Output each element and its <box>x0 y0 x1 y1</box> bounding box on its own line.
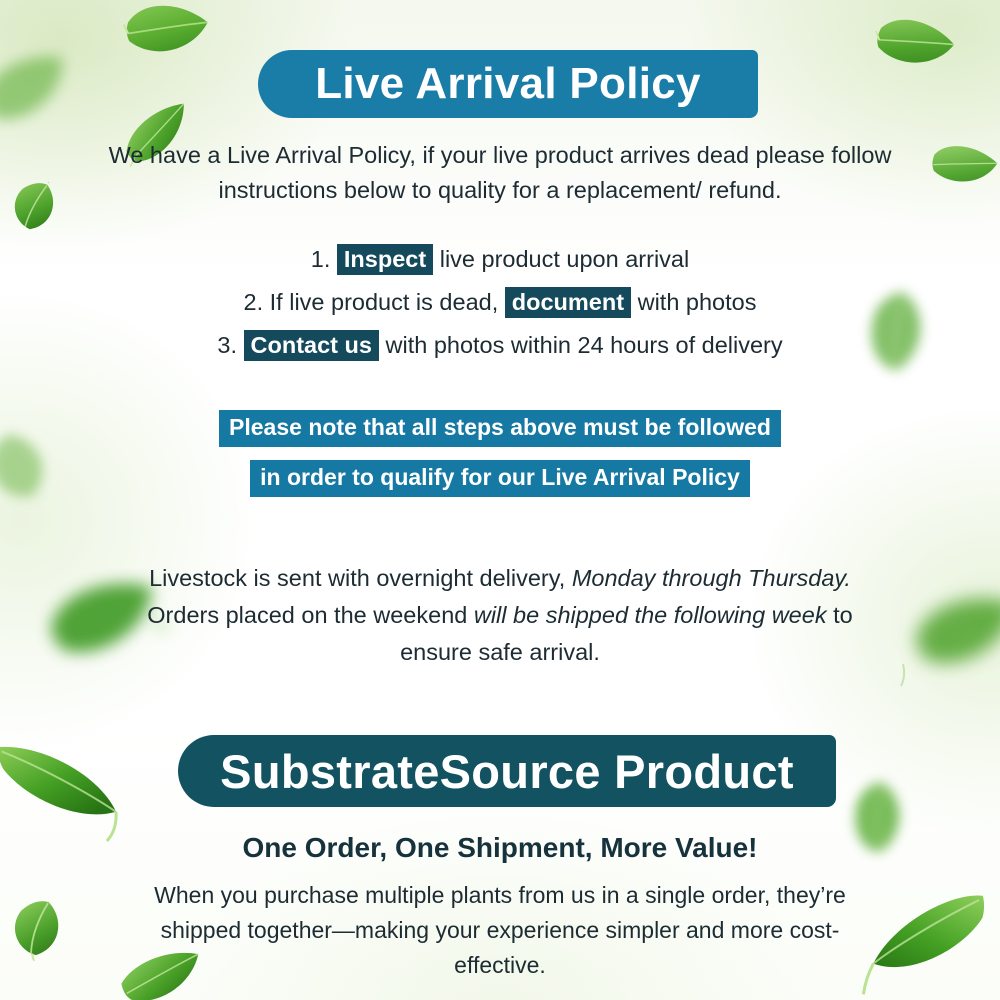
steps-list: 1. Inspect live product upon arrival 2. … <box>0 246 1000 375</box>
note-line-2: in order to qualify for our Live Arrival… <box>250 460 750 497</box>
list-item: 1. Inspect live product upon arrival <box>0 246 1000 273</box>
step-text-after: with photos <box>638 289 757 315</box>
page-content: Live Arrival Policy We have a Live Arriv… <box>0 0 1000 1000</box>
intro-line-2: instructions below to quality for a repl… <box>219 177 782 203</box>
livestock-text-2: Orders placed on the weekend <box>147 602 474 628</box>
step-text-after: live product upon arrival <box>440 246 690 272</box>
live-arrival-policy-banner: Live Arrival Policy <box>258 50 758 118</box>
livestock-text-1: Livestock is sent with overnight deliver… <box>149 565 572 591</box>
step-number: 3. <box>217 332 237 358</box>
substratesource-product-banner: SubstrateSource Product <box>178 735 836 807</box>
livestock-shipping-paragraph: Livestock is sent with overnight deliver… <box>0 560 1000 671</box>
step-number: 2. <box>244 289 264 315</box>
step-highlight-document: document <box>505 287 631 318</box>
step-highlight-inspect: Inspect <box>337 244 433 275</box>
note-line-1: Please note that all steps above must be… <box>219 410 781 447</box>
livestock-italic-2: will be shipped the following week <box>474 602 827 628</box>
list-item: 2. If live product is dead, document wit… <box>0 289 1000 316</box>
step-highlight-contact-us: Contact us <box>244 330 379 361</box>
policy-note-block: Please note that all steps above must be… <box>0 410 1000 497</box>
livestock-italic-1: Monday through Thursday. <box>572 565 851 591</box>
step-number: 1. <box>311 246 331 272</box>
list-item: 3. Contact us with photos within 24 hour… <box>0 332 1000 359</box>
step-text-before: If live product is dead, <box>270 289 499 315</box>
intro-line-1: We have a Live Arrival Policy, if your l… <box>109 142 892 168</box>
value-headline: One Order, One Shipment, More Value! <box>0 832 1000 864</box>
intro-paragraph: We have a Live Arrival Policy, if your l… <box>0 138 1000 208</box>
value-paragraph: When you purchase multiple plants from u… <box>0 878 1000 983</box>
step-text-after: with photos within 24 hours of delivery <box>386 332 783 358</box>
